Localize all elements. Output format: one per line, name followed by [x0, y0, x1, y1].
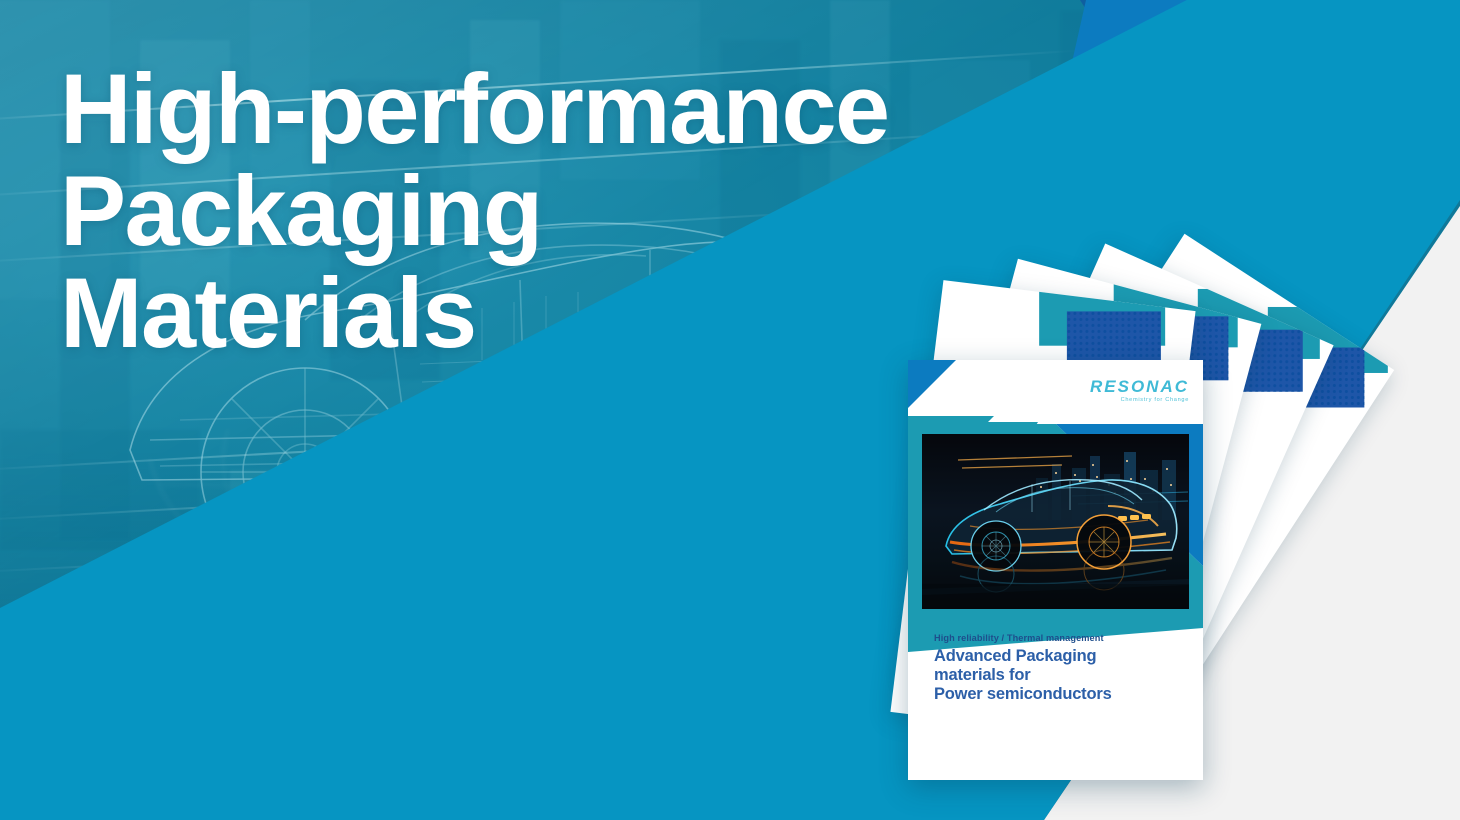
logo-tagline: Chemistry for Change	[1090, 398, 1189, 404]
headline-line-1: High-performance	[60, 58, 960, 160]
cover-kicker: High reliability / Thermal management	[934, 633, 1104, 643]
cover-photo-wireframe-car	[922, 434, 1189, 609]
resonac-logo: RESONAC Chemistry for Change	[1090, 378, 1189, 404]
headline-line-2: Packaging	[60, 160, 960, 262]
hero-banner: High-performance Packaging Materials	[0, 0, 1460, 820]
cover-title-line-2: materials for	[934, 666, 1112, 685]
headline-line-3: Materials	[60, 262, 960, 364]
cover-title-line-3: Power semiconductors	[934, 685, 1112, 704]
cover-title-line-1: Advanced Packaging	[934, 647, 1112, 666]
page-title: High-performance Packaging Materials	[60, 58, 960, 364]
logo-wordmark: RESONAC	[1090, 378, 1189, 395]
brochure-stack[interactable]: RESONAC Chemistry for Change	[880, 250, 1450, 820]
brochure-front-cover[interactable]: RESONAC Chemistry for Change	[908, 360, 1203, 780]
cover-title: Advanced Packaging materials for Power s…	[934, 647, 1112, 704]
